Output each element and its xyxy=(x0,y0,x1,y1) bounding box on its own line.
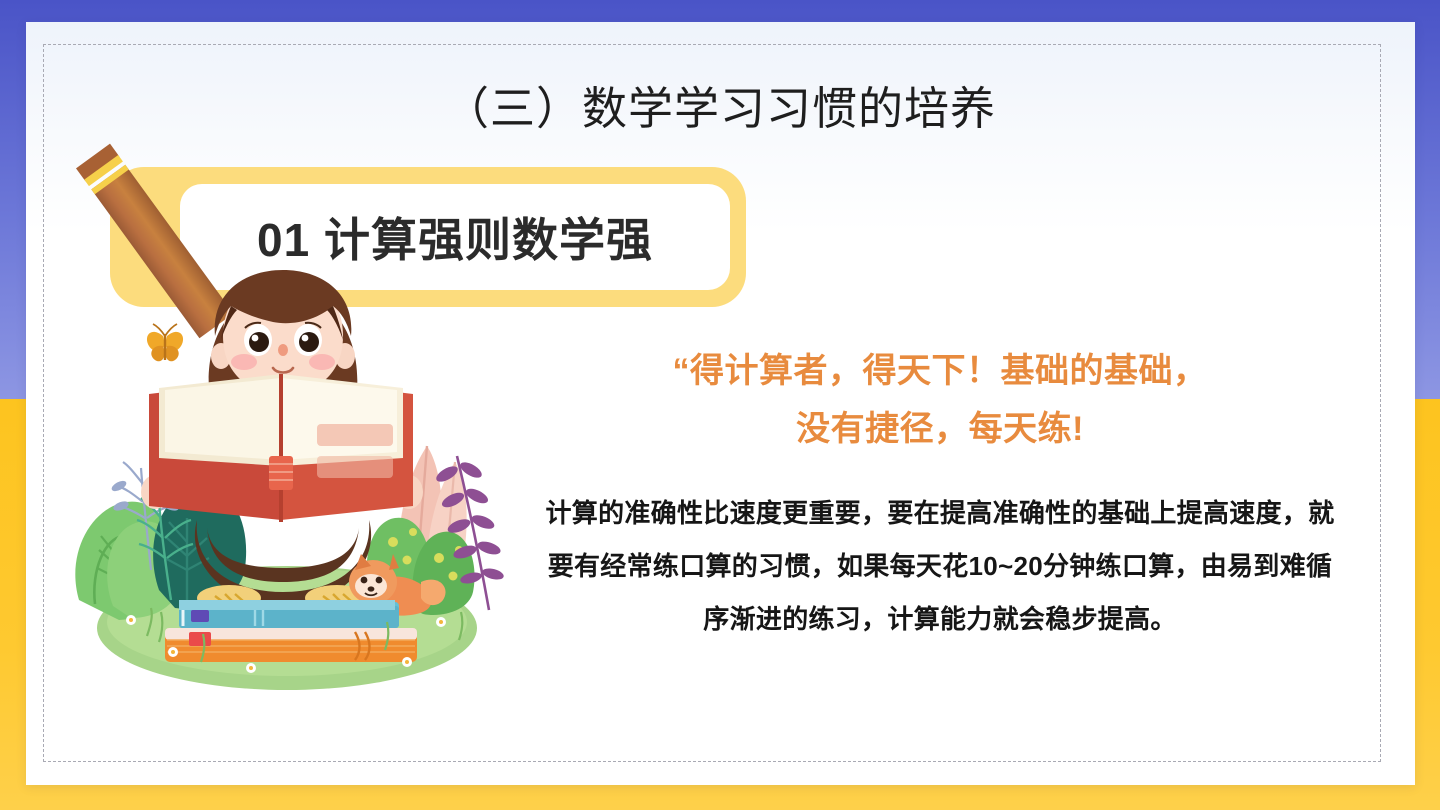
quote-line-1: “得计算者，得天下！基础的基础， xyxy=(525,342,1355,400)
open-book xyxy=(149,374,413,522)
nose xyxy=(278,344,288,356)
butterfly-icon xyxy=(147,324,183,361)
cheek-left xyxy=(231,354,257,370)
quote-block: “得计算者，得天下！基础的基础， 没有捷径，每天练! xyxy=(525,342,1355,459)
page-title: （三）数学学习习惯的培养 xyxy=(0,83,1440,135)
cheek-right xyxy=(309,354,335,370)
slide-root: （三）数学学习习惯的培养 01 计算强则数学强 “得计算者，得天下！基础的基础，… xyxy=(0,0,1440,810)
body-paragraph: 计算的准确性比速度更重要，要在提高准确性的基础上提高速度，就要有经常练口算的习惯… xyxy=(540,487,1340,645)
girl-reading-illustration xyxy=(55,270,505,690)
quote-line-2: 没有捷径，每天练! xyxy=(525,400,1355,458)
